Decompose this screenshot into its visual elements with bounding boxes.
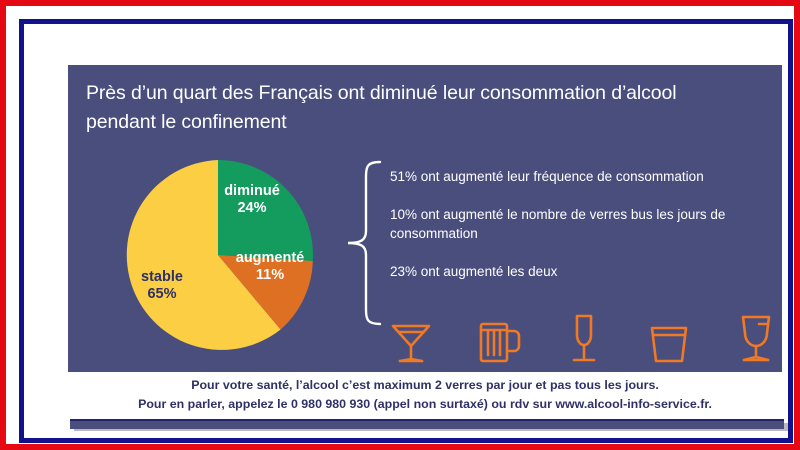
- beer-mug-icon: [476, 315, 522, 365]
- fact-item: 51% ont augmenté leur fréquence de conso…: [390, 167, 770, 186]
- wine-glass-icon: [734, 313, 778, 365]
- footer-rule: [70, 419, 784, 429]
- fact-item: 10% ont augmenté le nombre de verres bus…: [390, 205, 770, 243]
- fact-item: 23% ont augmenté les deux: [390, 262, 770, 281]
- glass-icons-row: [388, 313, 778, 365]
- champagne-flute-icon: [564, 313, 604, 365]
- page-title: Près d’un quart des Français ont diminué…: [86, 79, 764, 137]
- pie-label-augmente: augmenté 11%: [220, 250, 320, 284]
- pie-chart: diminué 24% augmenté 11% stable 65%: [120, 157, 316, 353]
- left-curly-brace-icon: [344, 159, 384, 327]
- tricolor-inner-frame: Près d’un quart des Français ont diminué…: [19, 19, 793, 443]
- facts-list: 51% ont augmenté leur fréquence de conso…: [390, 167, 770, 281]
- pie-label-diminue: diminué 24%: [206, 183, 298, 217]
- pie-label-stable: stable 65%: [116, 269, 208, 303]
- martini-glass-icon: [388, 315, 434, 365]
- tricolor-outer-frame: Près d’un quart des Français ont diminué…: [0, 0, 800, 450]
- infographic-panel: Près d’un quart des Français ont diminué…: [68, 65, 782, 372]
- footer-message: Pour votre santé, l’alcool c’est maximum…: [68, 376, 782, 414]
- tumbler-glass-icon: [646, 317, 692, 365]
